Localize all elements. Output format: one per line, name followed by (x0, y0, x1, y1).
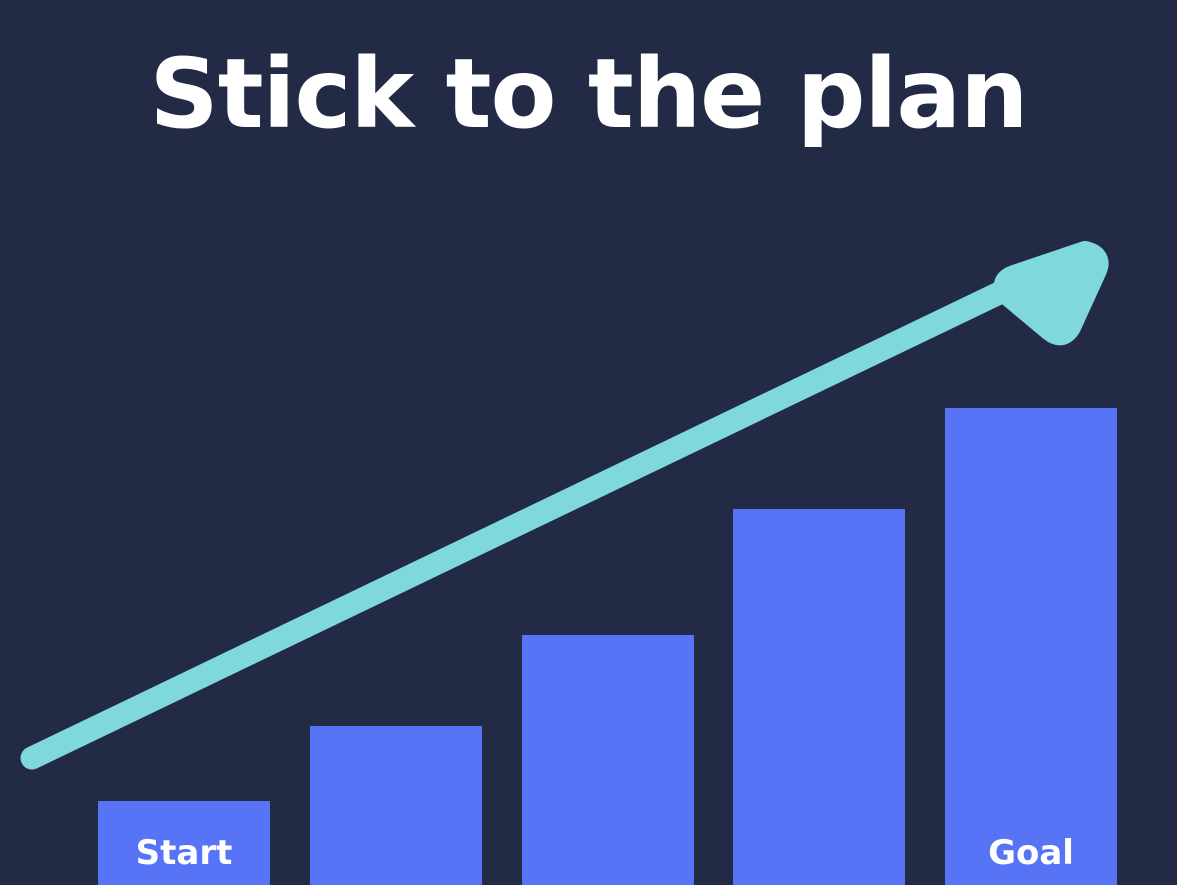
arrow-head (1005, 252, 1098, 334)
bar-label-start: Start (98, 836, 270, 870)
bar-5 (945, 408, 1117, 885)
bar-label-goal: Goal (945, 836, 1117, 870)
bar-3 (522, 635, 694, 885)
bar-4 (733, 509, 905, 885)
infographic-canvas: Stick to the plan Start Goal (0, 0, 1177, 885)
bar-2 (310, 726, 482, 885)
page-title: Stick to the plan (0, 46, 1177, 142)
